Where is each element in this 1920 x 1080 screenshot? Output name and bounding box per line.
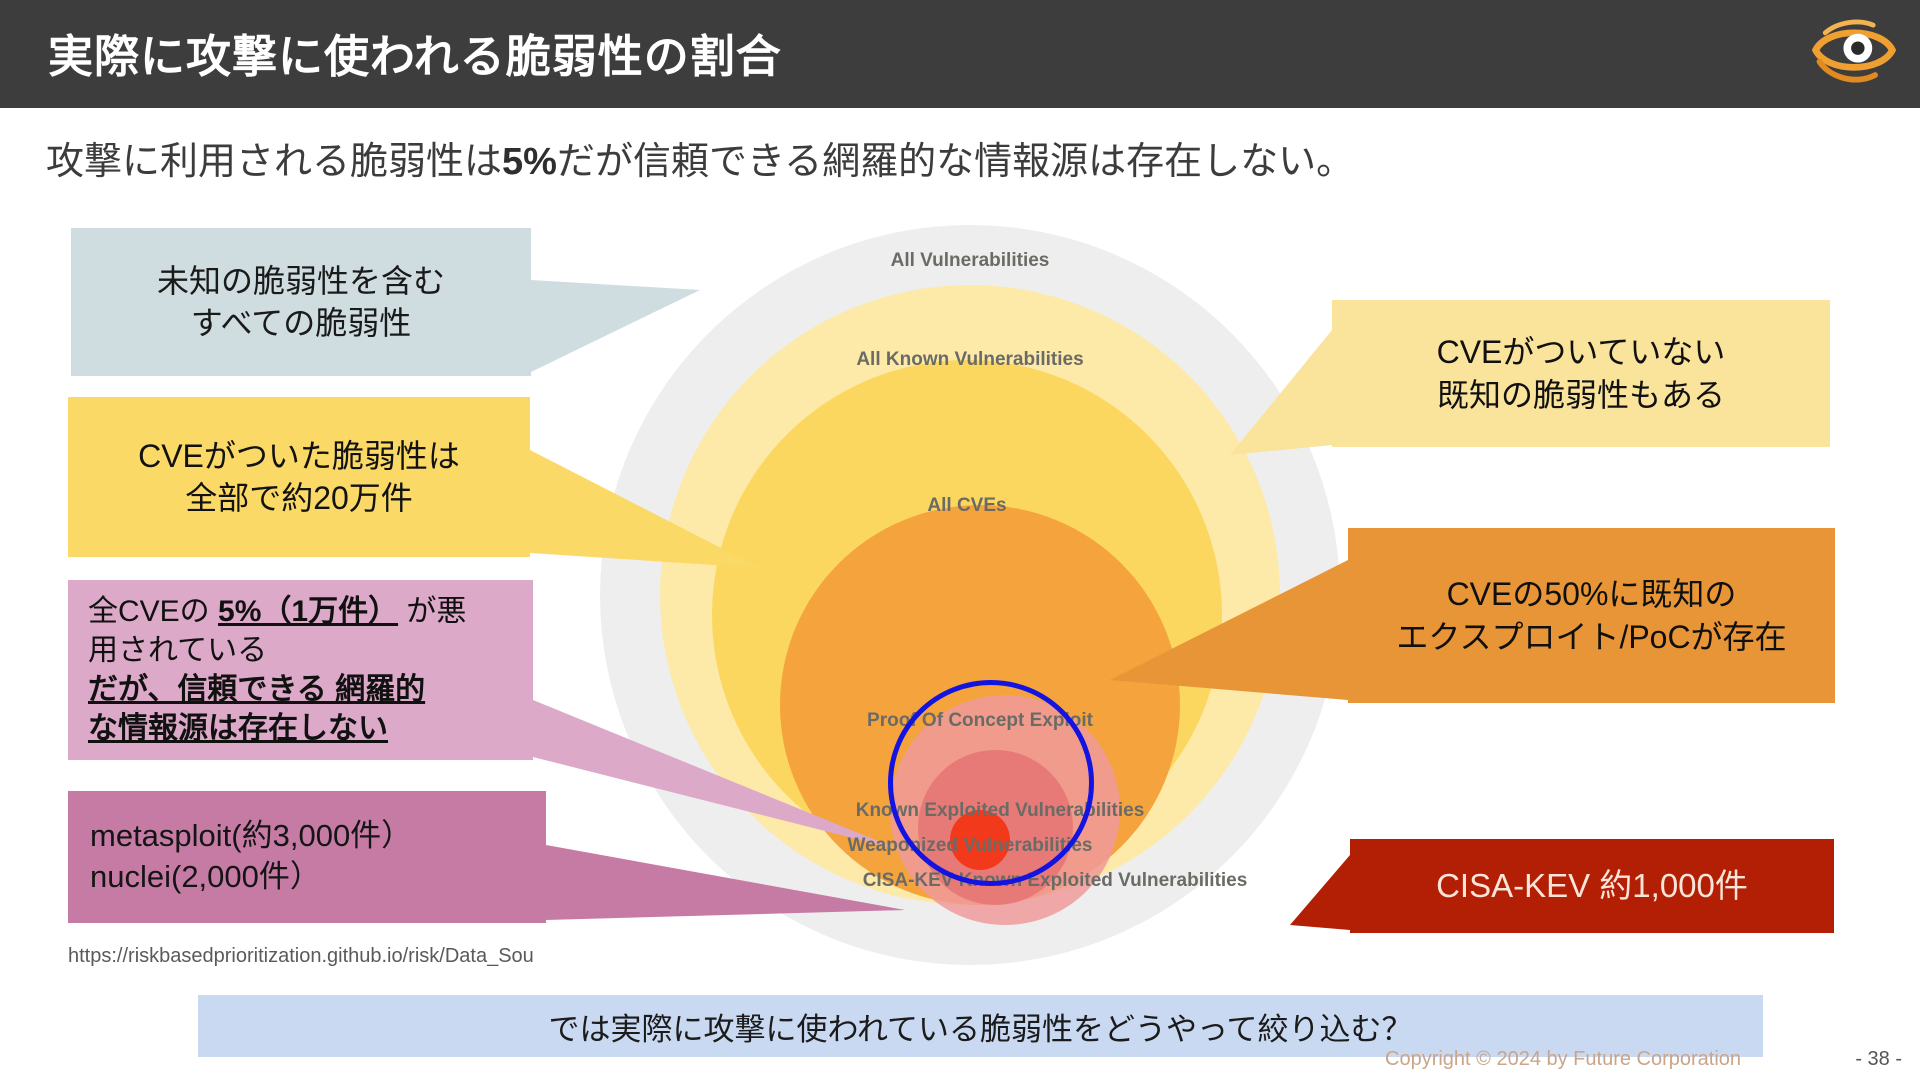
- callout-cisa-kev-text: CISA-KEV 約1,000件: [1436, 864, 1748, 908]
- callout-exploited-line1-c: が悪: [398, 595, 466, 628]
- callout-exploited-share: 全CVEの 5%（1万件） が悪 用されている だが、信頼できる 網羅的 な情報…: [68, 580, 533, 760]
- callout-no-cve-line1: CVEがついていない: [1437, 331, 1726, 373]
- callout-exploited-line4: な情報源は存在しない: [88, 709, 466, 748]
- callout-tools-line2: nuclei(2,000件）: [90, 857, 412, 898]
- ring-label-all-cves: All CVEs: [712, 495, 1222, 517]
- ring-label-cisa-kev-known-exploited: CISA-KEV Known Exploited Vulnerabilities: [755, 870, 1355, 892]
- callout-poc-exists-line1: CVEの50%に既知の: [1396, 573, 1786, 615]
- callout-no-cve: CVEがついていない 既知の脆弱性もある: [1332, 300, 1830, 447]
- callout-no-cve-line2: 既知の脆弱性もある: [1437, 374, 1726, 416]
- callout-cve-total: CVEがついた脆弱性は 全部で約20万件: [68, 397, 530, 557]
- ring-label-all-known-vulnerabilities: All Known Vulnerabilities: [660, 349, 1280, 371]
- callout-tools-line1: metasploit(約3,000件）: [90, 816, 412, 857]
- callout-exploited-line1-a: 全CVEの: [88, 595, 218, 628]
- callout-cisa-kev: CISA-KEV 約1,000件: [1350, 839, 1834, 933]
- callout-all-vulnerabilities-line1: 未知の脆弱性を含む: [157, 260, 445, 302]
- callout-exploited-highlight: 5%（1万件）: [218, 595, 398, 628]
- callout-exploited-line2: 用されている: [88, 631, 466, 670]
- ring-label-all-vulnerabilities: All Vulnerabilities: [600, 250, 1340, 272]
- callout-exploited-line3: だが、信頼できる 網羅的: [88, 670, 466, 709]
- callout-cve-total-line2: 全部で約20万件: [138, 477, 460, 519]
- callout-all-vulnerabilities: 未知の脆弱性を含む すべての脆弱性: [71, 228, 531, 376]
- callout-exploited-line1: 全CVEの 5%（1万件） が悪: [88, 592, 466, 631]
- callout-poc-exists-line2: エクスプロイト/PoCが存在: [1396, 616, 1786, 658]
- callout-all-vulnerabilities-line2: すべての脆弱性: [157, 302, 445, 344]
- callout-exploit-tools: metasploit(約3,000件） nuclei(2,000件）: [68, 791, 546, 923]
- callout-cve-total-line1: CVEがついた脆弱性は: [138, 435, 460, 477]
- callout-poc-exists: CVEの50%に既知の エクスプロイト/PoCが存在: [1348, 528, 1835, 703]
- highlight-circle: [888, 680, 1094, 886]
